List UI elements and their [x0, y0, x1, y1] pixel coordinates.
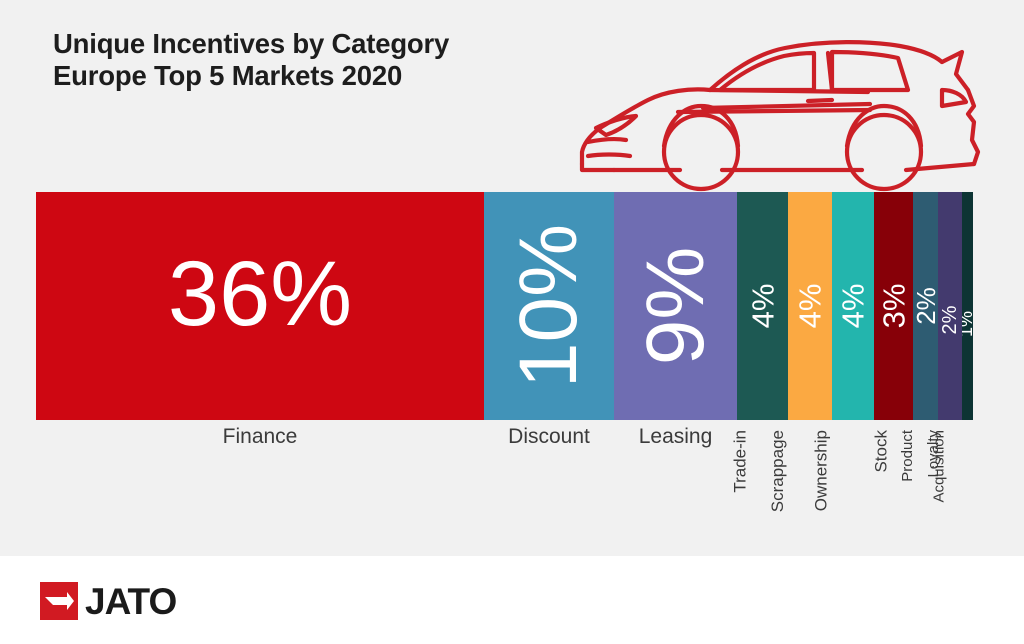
bar-segment-acquisition[interactable]: 1%	[962, 192, 973, 420]
bar-segment-finance[interactable]: 36%	[36, 192, 484, 420]
category-label-ownership: Ownership	[832, 424, 874, 549]
category-label-finance: Finance	[36, 424, 484, 549]
category-label-acquisition-text: Acquisition	[931, 430, 947, 503]
bar-value-acquisition: 1%	[962, 311, 973, 337]
bar-segment-stock[interactable]: 3%	[874, 192, 913, 420]
category-label-product-text: Product	[900, 430, 916, 482]
bar-segment-product[interactable]: 2%	[913, 192, 938, 420]
category-label-finance-text: Finance	[223, 426, 298, 448]
category-label-ownership-text: Ownership	[812, 430, 830, 511]
category-label-scrappage-text: Scrappage	[769, 430, 787, 512]
bar-segment-trade-in[interactable]: 4%	[737, 192, 788, 420]
jato-wordmark: JATO	[85, 583, 176, 620]
bar-value-finance: 36%	[168, 248, 352, 340]
category-label-leasing-text: Leasing	[639, 426, 713, 448]
stacked-bar-chart: 36% 10% 9% 4% 4% 4% 3% 2% 2% 1%	[36, 192, 973, 420]
bar-segment-scrappage[interactable]: 4%	[788, 192, 832, 420]
bar-value-loyalty: 2%	[940, 306, 960, 335]
infographic-panel: Unique Incentives by Category Europe Top…	[0, 0, 1024, 556]
bar-segment-ownership[interactable]: 4%	[832, 192, 874, 420]
jato-arrow-icon	[40, 582, 78, 620]
category-label-stock-text: Stock	[872, 430, 890, 473]
car-hatchback-outline-icon	[570, 18, 1000, 193]
category-label-discount: Discount	[484, 424, 614, 549]
title-line-2: Europe Top 5 Markets 2020	[53, 60, 449, 92]
bar-value-trade-in: 4%	[747, 284, 778, 329]
bar-value-ownership: 4%	[838, 284, 869, 329]
page-title: Unique Incentives by Category Europe Top…	[53, 28, 449, 92]
bar-value-discount: 10%	[508, 224, 590, 388]
bar-segment-leasing[interactable]: 9%	[614, 192, 737, 420]
title-line-1: Unique Incentives by Category	[53, 28, 449, 60]
bar-segment-loyalty[interactable]: 2%	[938, 192, 962, 420]
category-label-discount-text: Discount	[508, 426, 590, 448]
category-label-trade-in-text: Trade-in	[731, 430, 749, 493]
jato-logo[interactable]: JATO	[40, 582, 176, 620]
bar-value-stock: 3%	[878, 284, 909, 329]
bar-segment-discount[interactable]: 10%	[484, 192, 614, 420]
footer: JATO	[0, 556, 1024, 644]
bar-value-product: 2%	[913, 287, 938, 325]
category-label-leasing: Leasing	[614, 424, 737, 549]
chart-category-labels: Finance Discount Leasing Trade-in Scrapp…	[36, 424, 973, 549]
bar-value-leasing: 9%	[635, 247, 717, 366]
bar-value-scrappage: 4%	[795, 284, 826, 329]
category-label-acquisition: Acquisition	[962, 424, 973, 549]
